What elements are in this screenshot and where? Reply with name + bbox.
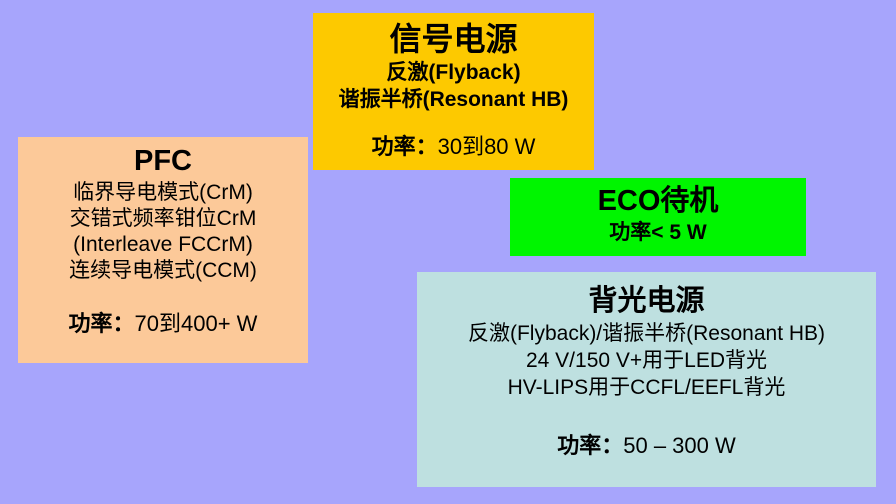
- slide-canvas: PFC 临界导电模式(CrM) 交错式频率钳位CrM (Interleave F…: [0, 0, 896, 504]
- backlight-power-box[interactable]: 背光电源 反激(Flyback)/谐振半桥(Resonant HB) 24 V/…: [417, 272, 876, 487]
- backlight-power-line-2: 24 V/150 V+用于LED背光: [417, 347, 876, 374]
- signal-power-power: 功率：30到80 W: [313, 134, 594, 160]
- pfc-line-1: 临界导电模式(CrM): [18, 180, 308, 206]
- signal-power-line-2: 谐振半桥(Resonant HB): [313, 86, 594, 113]
- eco-standby-power: 功率< 5 W: [510, 220, 806, 246]
- eco-standby-power-value: < 5 W: [651, 221, 706, 244]
- signal-power-label: 功率：: [372, 134, 438, 159]
- backlight-power-line-3: HV-LIPS用于CCFL/EEFL背光: [417, 374, 876, 401]
- eco-standby-box[interactable]: ECO待机 功率< 5 W: [510, 178, 806, 256]
- backlight-power-power: 功率：50 – 300 W: [417, 433, 876, 459]
- signal-power-box[interactable]: 信号电源 反激(Flyback) 谐振半桥(Resonant HB) 功率：30…: [313, 13, 594, 170]
- signal-power-title: 信号电源: [313, 19, 594, 59]
- eco-standby-title: ECO待机: [510, 183, 806, 219]
- backlight-power-title: 背光电源: [417, 283, 876, 319]
- backlight-power-value: 50 – 300 W: [623, 433, 736, 458]
- pfc-box[interactable]: PFC 临界导电模式(CrM) 交错式频率钳位CrM (Interleave F…: [18, 137, 308, 363]
- pfc-power-label: 功率：: [69, 311, 135, 336]
- backlight-power-line-1: 反激(Flyback)/谐振半桥(Resonant HB): [417, 320, 876, 347]
- backlight-power-label: 功率：: [557, 433, 623, 458]
- signal-power-line-1: 反激(Flyback): [313, 59, 594, 86]
- eco-standby-power-label: 功率: [609, 221, 651, 244]
- pfc-line-3: (Interleave FCCrM): [18, 232, 308, 258]
- pfc-title: PFC: [18, 143, 308, 179]
- pfc-power-value: 70到400+ W: [135, 311, 258, 336]
- pfc-line-2: 交错式频率钳位CrM: [18, 206, 308, 232]
- pfc-line-4: 连续导电模式(CCM): [18, 258, 308, 284]
- signal-power-value: 30到80 W: [438, 134, 536, 159]
- pfc-power: 功率：70到400+ W: [18, 311, 308, 337]
